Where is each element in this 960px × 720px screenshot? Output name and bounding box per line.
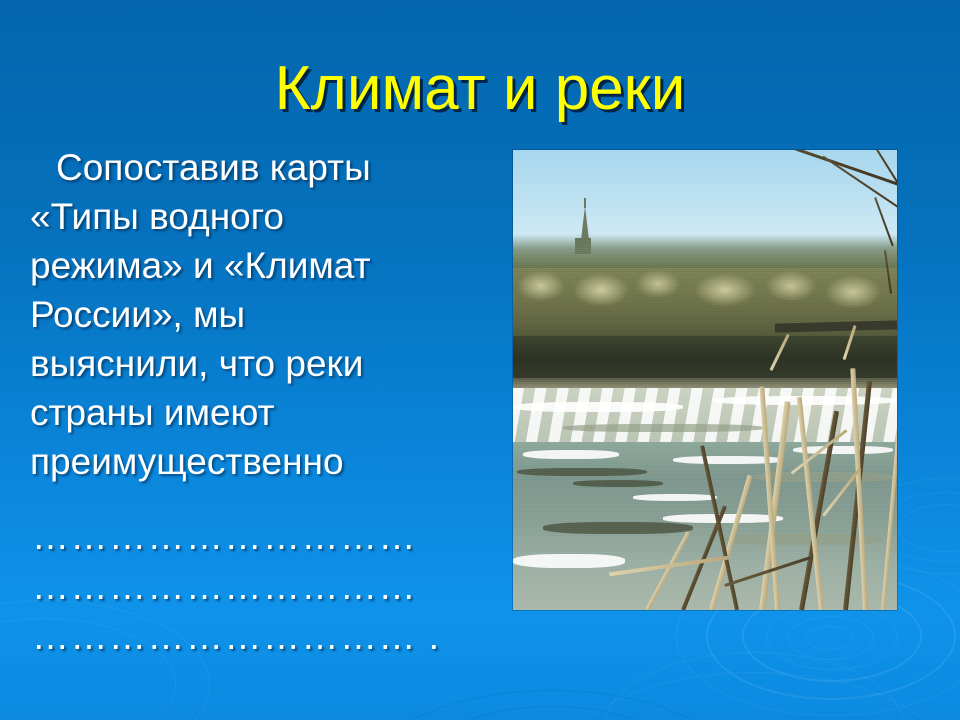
body-text-block: Сопоставив карты «Типы водного режима» и… — [30, 143, 485, 486]
blank-line: ………………………… . — [32, 612, 462, 662]
presentation-slide: Климат и реки Сопоставив карты «Типы вод… — [0, 0, 960, 720]
blank-line: ………………………… — [32, 562, 462, 612]
body-line: преимущественно — [30, 437, 485, 486]
river-ice-drift-photo — [513, 150, 897, 610]
body-line: «Типы водного — [30, 192, 485, 241]
fill-in-blank-lines: ………………………… ………………………… ………………………… . — [32, 512, 462, 662]
photo-grain-overlay — [513, 150, 897, 610]
body-line: страны имеют — [30, 388, 485, 437]
body-line: Сопоставив карты — [30, 143, 485, 192]
body-line: России», мы — [30, 290, 485, 339]
body-line: выяснили, что реки — [30, 339, 485, 388]
blank-line: ………………………… — [32, 512, 462, 562]
body-line: режима» и «Климат — [30, 241, 485, 290]
slide-title: Климат и реки — [0, 58, 960, 120]
